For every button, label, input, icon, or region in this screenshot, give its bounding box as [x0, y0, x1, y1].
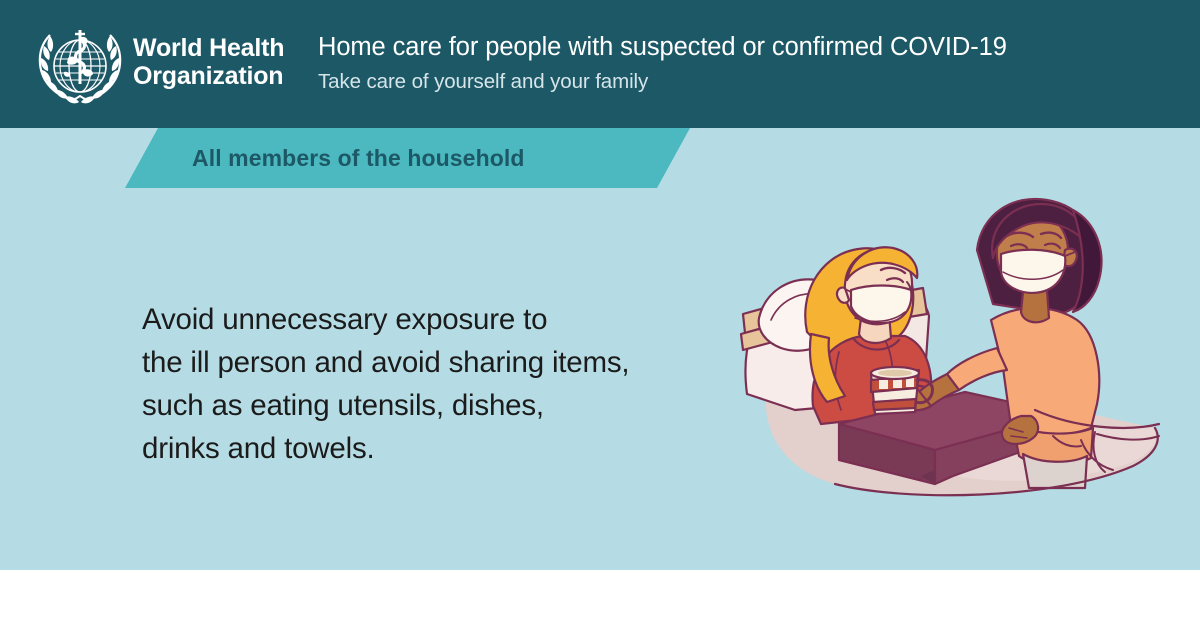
header-bar: World Health Organization Home care for …	[0, 0, 1200, 128]
page-subtitle: Take care of yourself and your family	[318, 70, 648, 94]
page-title: Home care for people with suspected or c…	[318, 33, 1007, 62]
who-wordmark-line1: World Health	[133, 34, 284, 62]
body-text-line-1: Avoid unnecessary exposure to	[142, 298, 762, 341]
who-wordmark-line2: Organization	[133, 62, 284, 90]
body-text: Avoid unnecessary exposure to the ill pe…	[142, 298, 762, 470]
who-wordmark: World Health Organization	[133, 34, 284, 90]
body-text-line-3: such as eating utensils, dishes,	[142, 384, 762, 427]
section-banner-label: All members of the household	[192, 145, 525, 172]
banner-trapezoid-shape	[0, 128, 1200, 188]
who-emblem-icon	[32, 22, 128, 106]
caregiver-serving-drink-illustration	[735, 188, 1185, 510]
who-covid-infographic: World Health Organization Home care for …	[0, 0, 1200, 628]
body-text-line-4: drinks and towels.	[142, 427, 762, 470]
footer-bar: #CORONAVIRUS www.who.int/covid-19 #COVID…	[0, 570, 1200, 628]
section-banner	[0, 128, 1200, 188]
body-text-line-2: the ill person and avoid sharing items,	[142, 341, 762, 384]
